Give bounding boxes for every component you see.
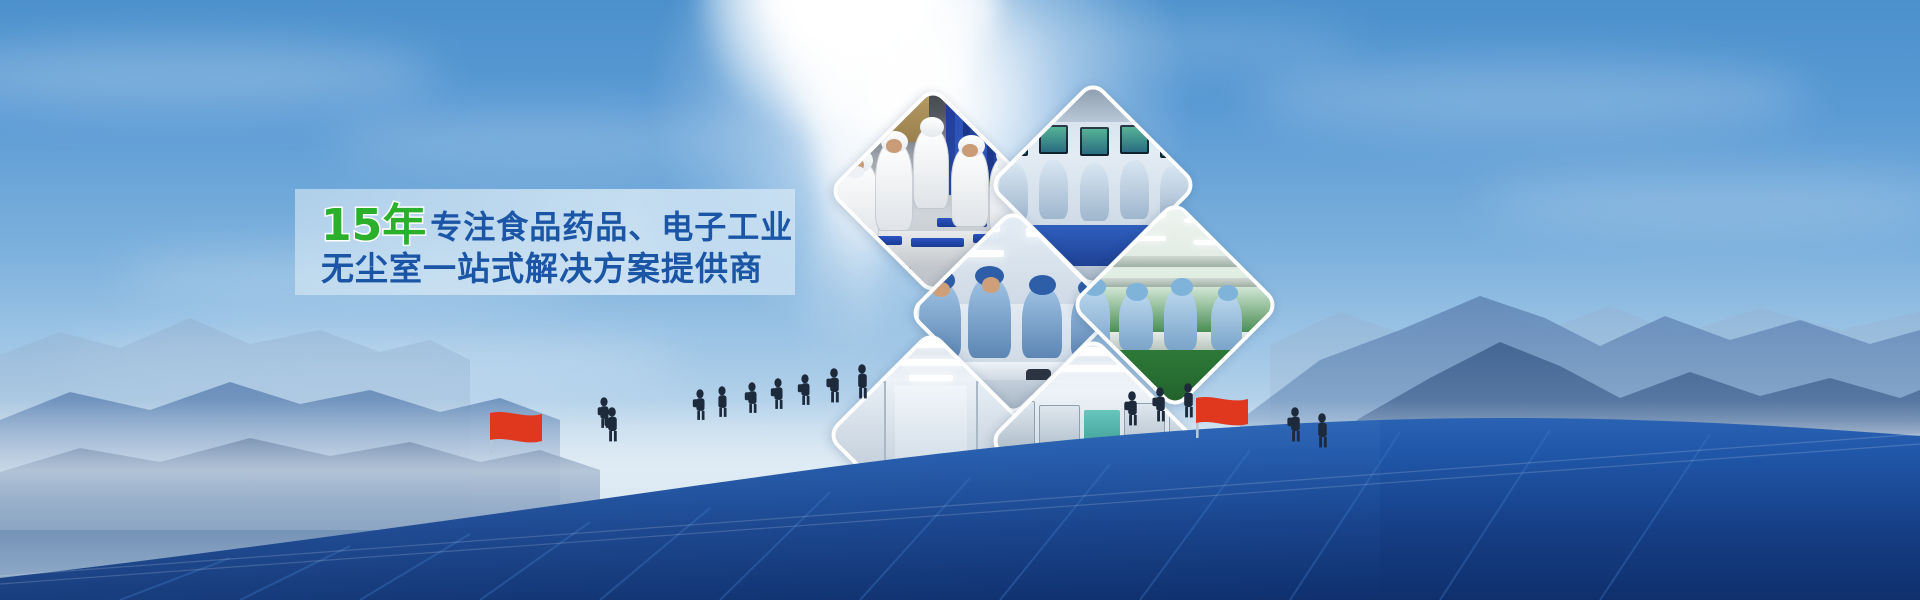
years-highlight: 15年 [321, 203, 426, 250]
headline-text-block: 15年 专注食品药品、电子工业 无尘室一站式解决方案提供商 [295, 189, 815, 299]
headline-line-1-rest: 专注食品药品、电子工业 [430, 211, 793, 245]
foreground-snow-ridge [0, 370, 1920, 600]
hero-banner: 15年 专注食品药品、电子工业 无尘室一站式解决方案提供商 [0, 0, 1920, 600]
headline-line-1: 15年 专注食品药品、电子工业 [321, 201, 815, 248]
headline-line-2: 无尘室一站式解决方案提供商 [321, 252, 815, 287]
